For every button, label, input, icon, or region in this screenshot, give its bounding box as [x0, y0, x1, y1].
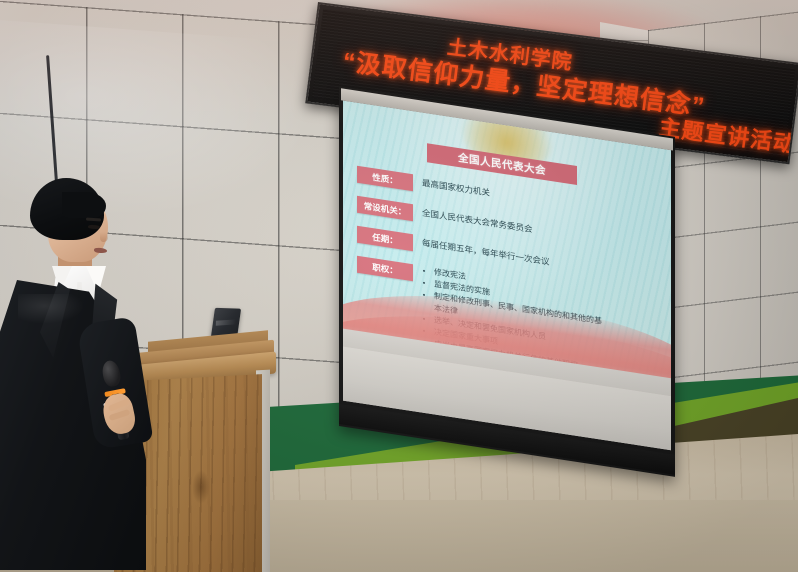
lecture-hall-photo: 土木水利学院 “汲取信仰力量，坚定理想信念” 主题宣讲活动 全国人民代表大会 性… — [0, 0, 798, 572]
projection-screen-surface: 全国人民代表大会 性质： 最高国家权力机关 常设机关： 全国人民代表大会常务委员… — [343, 101, 671, 451]
slide-row-label: 任期： — [357, 226, 413, 251]
slide-row: 职权： — [357, 256, 413, 281]
laptop-screen-sheen — [216, 319, 236, 325]
slide-row-value: 全国人民代表大会常务委员会 — [422, 206, 533, 236]
jacket-shoulder-highlight — [18, 294, 84, 324]
projection-screen: 全国人民代表大会 性质： 最高国家权力机关 常设机关： 全国人民代表大会常务委员… — [339, 86, 675, 477]
slide-row-label: 性质： — [357, 166, 413, 191]
slide-row-value: 最高国家权力机关 — [422, 176, 490, 200]
nose — [100, 232, 108, 242]
hair-fringe — [62, 192, 106, 218]
slide-row-value: 每届任期五年，每年举行一次会议 — [422, 236, 550, 269]
eye — [88, 225, 100, 230]
speaker-person — [0, 170, 190, 572]
podium-wood-knot — [192, 470, 210, 505]
presentation-slide: 全国人民代表大会 性质： 最高国家权力机关 常设机关： 全国人民代表大会常务委员… — [343, 101, 671, 397]
slide-row: 性质： 最高国家权力机关 — [357, 166, 490, 203]
slide-row-label: 职权： — [357, 256, 413, 281]
slide-row-label: 常设机关： — [357, 196, 413, 221]
